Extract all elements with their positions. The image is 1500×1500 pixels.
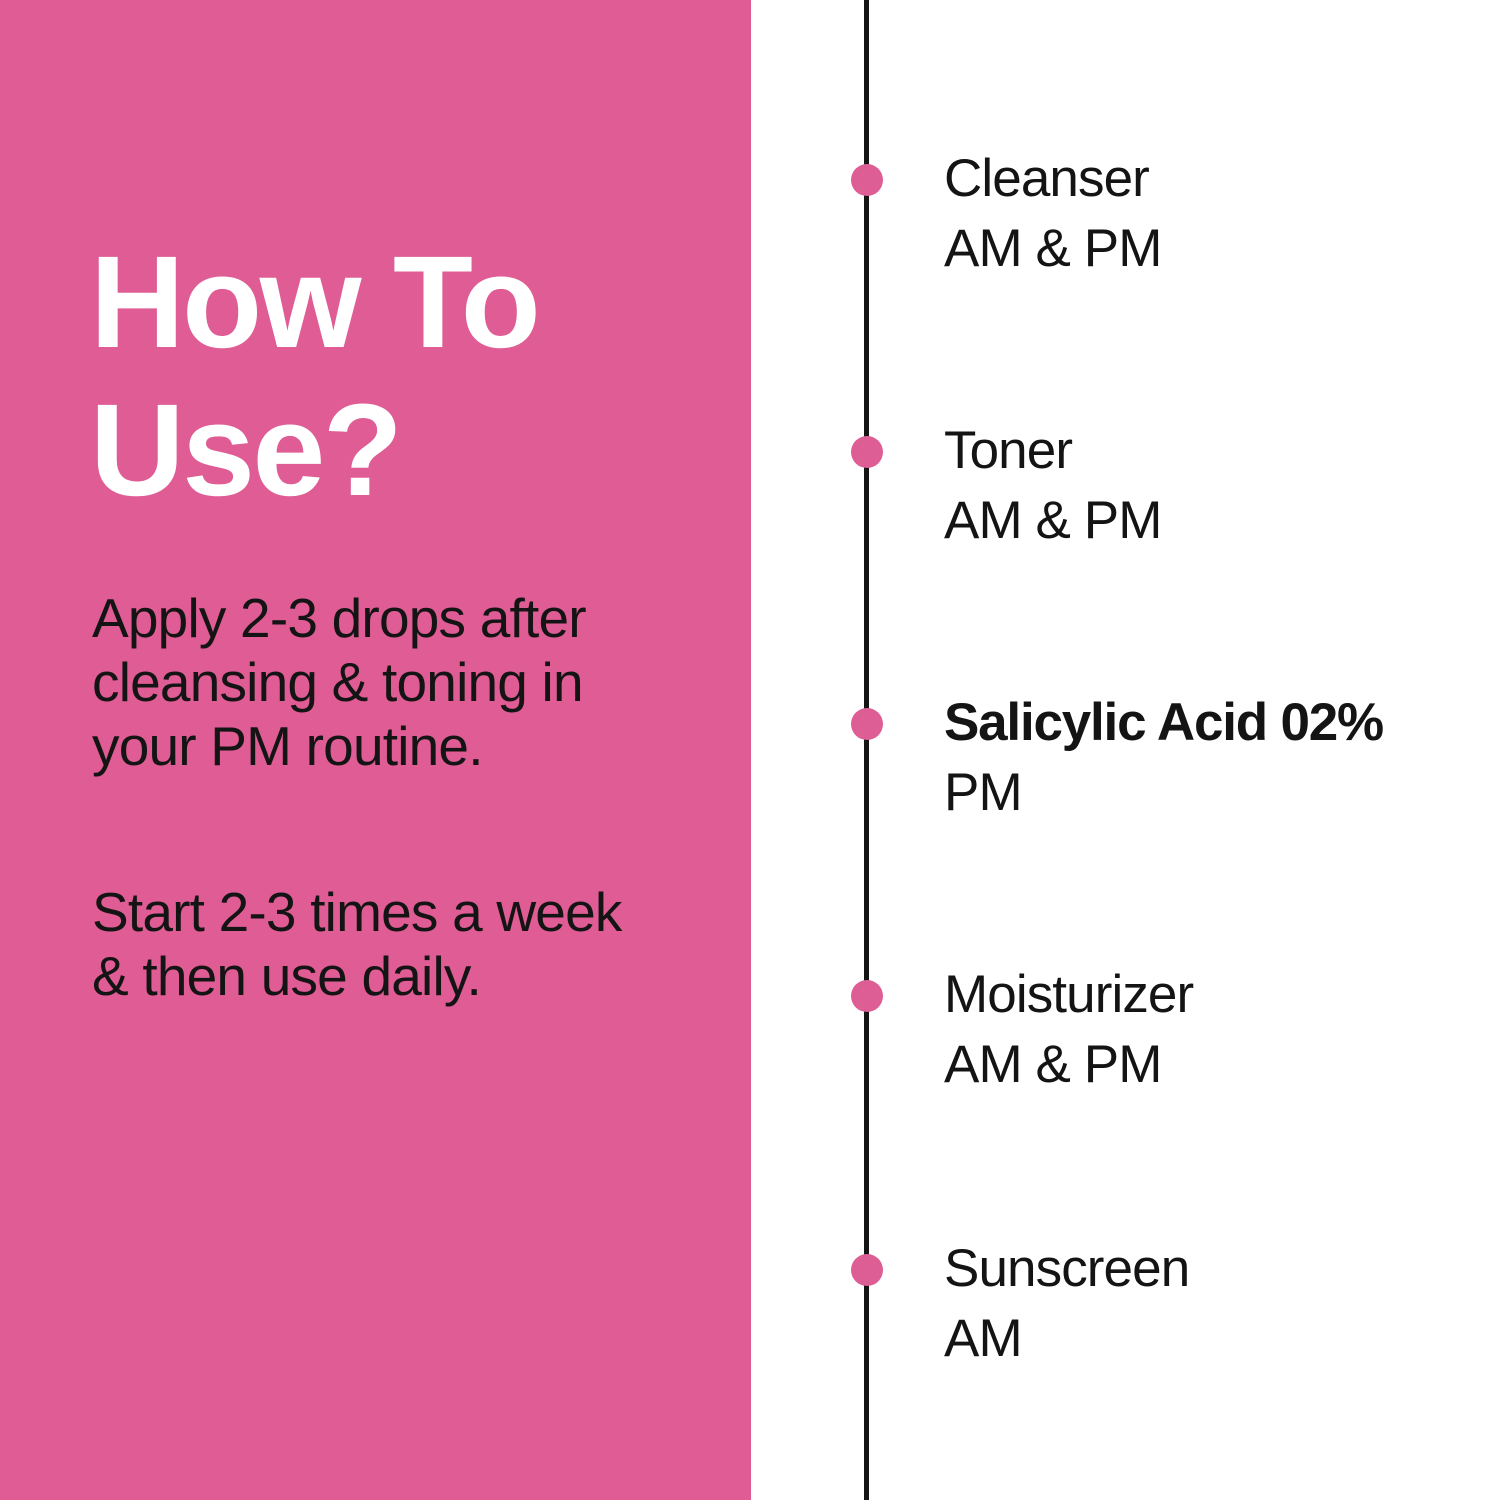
- timeline-step-timing: AM & PM: [944, 486, 1464, 556]
- timeline-dot-icon: [851, 1254, 883, 1286]
- timeline-dot-icon: [851, 980, 883, 1012]
- timeline-step-label: Toner: [944, 416, 1464, 486]
- timeline-step-text: MoisturizerAM & PM: [944, 960, 1464, 1100]
- timeline-step-text: TonerAM & PM: [944, 416, 1464, 556]
- timeline-step-label: Cleanser: [944, 144, 1464, 214]
- infographic-canvas: How To Use? Apply 2-3 drops after cleans…: [0, 0, 1500, 1500]
- timeline-step-timing: PM: [944, 758, 1464, 828]
- timeline-step-label: Salicylic Acid 02%: [944, 688, 1464, 758]
- timeline-step-label: Moisturizer: [944, 960, 1464, 1030]
- instruction-paragraph-2: Start 2-3 times a week & then use daily.: [92, 880, 712, 1008]
- instruction-paragraph-1: Apply 2-3 drops after cleansing & toning…: [92, 586, 712, 778]
- timeline-step-text: SunscreenAM: [944, 1234, 1464, 1374]
- timeline-step-text: CleanserAM & PM: [944, 144, 1464, 284]
- timeline-step-label: Sunscreen: [944, 1234, 1464, 1304]
- timeline-step-text: Salicylic Acid 02%PM: [944, 688, 1464, 828]
- timeline-dot-icon: [851, 436, 883, 468]
- panel-body-text: Apply 2-3 drops after cleansing & toning…: [92, 586, 712, 1008]
- timeline-step-timing: AM: [944, 1304, 1464, 1374]
- timeline-step-timing: AM & PM: [944, 1030, 1464, 1100]
- timeline-dot-icon: [851, 708, 883, 740]
- timeline-dot-icon: [851, 164, 883, 196]
- pink-panel: How To Use? Apply 2-3 drops after cleans…: [0, 0, 751, 1500]
- page-title: How To Use?: [90, 228, 730, 524]
- timeline-step-timing: AM & PM: [944, 214, 1464, 284]
